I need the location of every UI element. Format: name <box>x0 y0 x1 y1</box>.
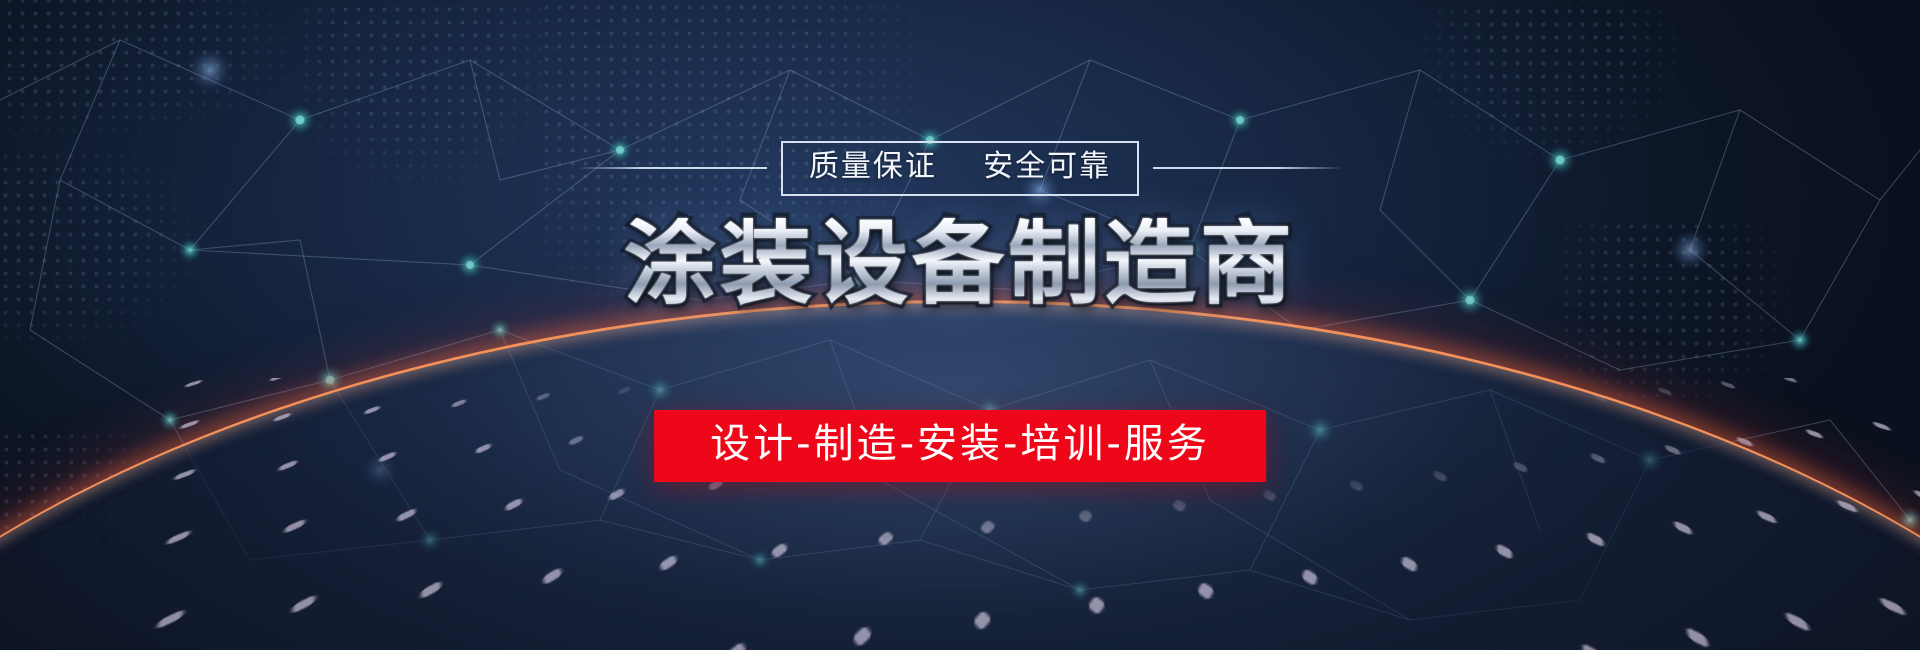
subtitle-text: 质量保证 安全可靠 <box>809 152 1111 182</box>
page-title: 涂装设备制造商 <box>0 218 1920 310</box>
cta-banner-text: 设计-制造-安装-培训-服务 <box>710 421 1210 467</box>
subtitle-box: 质量保证 安全可靠 <box>781 141 1139 196</box>
subtitle-row: 质量保证 安全可靠 <box>0 138 1920 198</box>
subtitle-rule-right <box>1153 167 1343 169</box>
subtitle-rule-left <box>577 167 767 169</box>
cta-banner[interactable]: 设计-制造-安装-培训-服务 <box>654 410 1266 482</box>
hero-banner: 质量保证 安全可靠 涂装设备制造商 涂装设备制造商 设计-制造-安装-培训-服务 <box>0 0 1920 650</box>
